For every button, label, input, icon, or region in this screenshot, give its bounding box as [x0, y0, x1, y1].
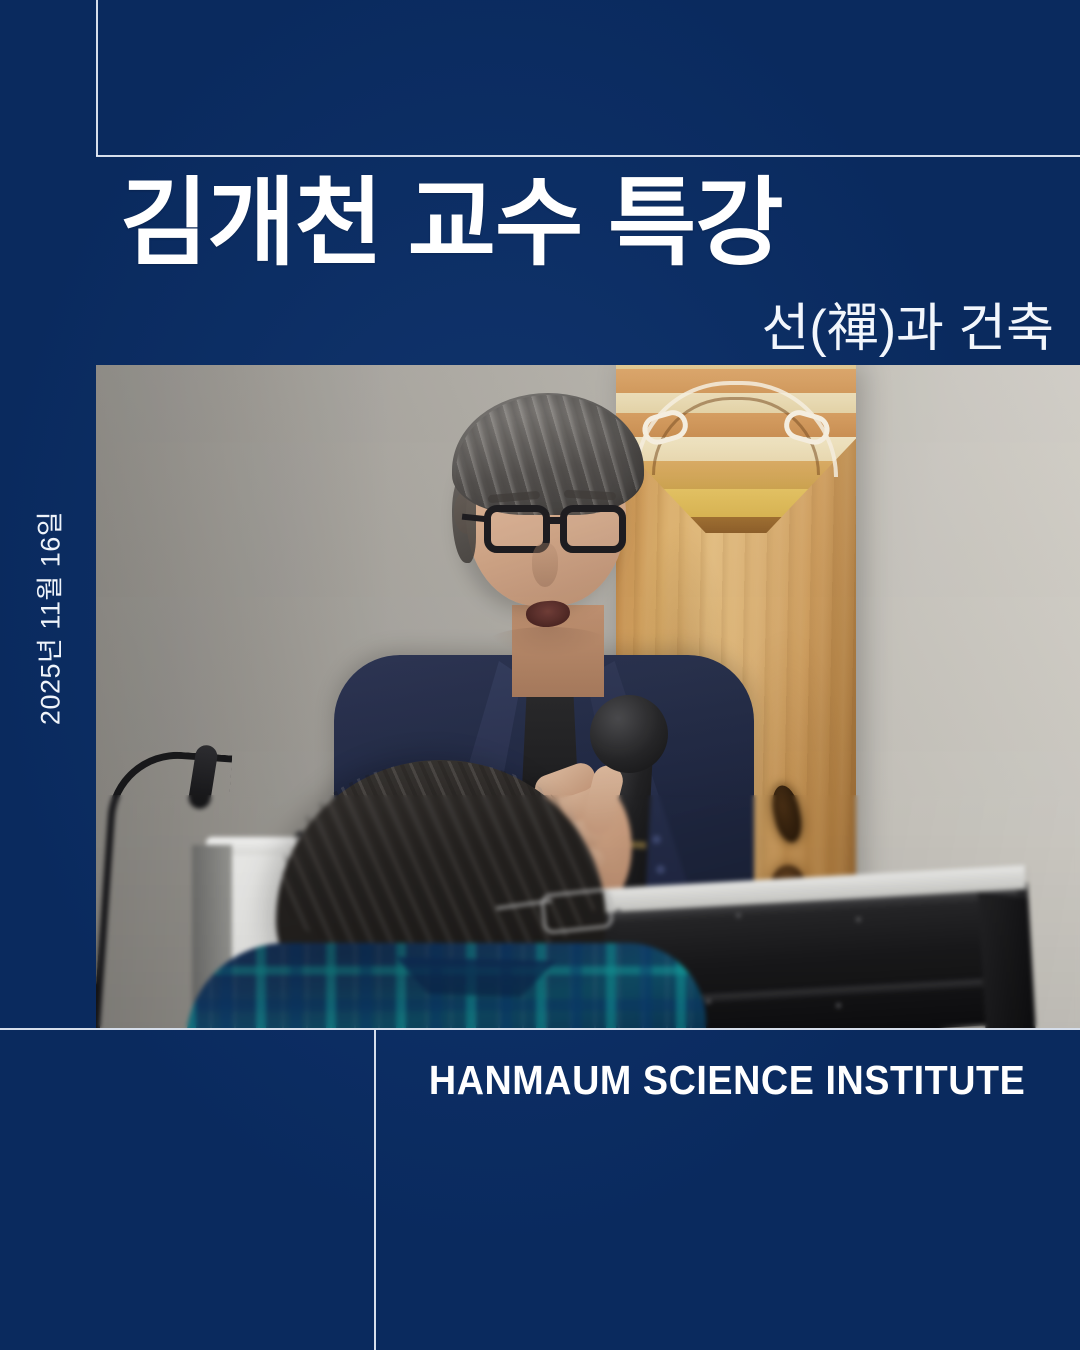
speaker-button: [652, 835, 661, 844]
page-subtitle: 선(禪)과 건축: [762, 286, 1054, 361]
frame-rule-vertical-top: [96, 0, 98, 156]
speaker-chin-shadow: [488, 627, 608, 657]
lectern-screw: [856, 917, 861, 922]
column-painted-bands: [616, 365, 856, 565]
lectern-screw: [836, 1003, 841, 1008]
column-band: [616, 489, 856, 519]
lecture-photo: [96, 365, 1080, 1028]
column-band: [616, 517, 856, 533]
audience-eyeglasses: [540, 887, 614, 934]
lectern-screw: [736, 913, 741, 918]
page-title: 김개천 교수 특강: [120, 172, 783, 276]
speaker-nose: [532, 543, 558, 587]
poster-root: 김개천 교수 특강 선(禪)과 건축 2025년 11월 16일: [0, 0, 1080, 1350]
header-block: 김개천 교수 특강 선(禪)과 건축: [96, 156, 1080, 365]
lectern-screw: [706, 999, 711, 1004]
eyeglasses-bridge: [548, 517, 564, 524]
speaker-button: [656, 865, 665, 874]
institute-footer: HANMAUM SCIENCE INSTITUTE: [374, 1030, 1080, 1130]
handheld-microphone-head: [590, 695, 668, 773]
event-date-vertical: 2025년 11월 16일: [29, 511, 68, 725]
lectern-side-panel: [978, 892, 1036, 1028]
institute-name: HANMAUM SCIENCE INSTITUTE: [429, 1057, 1025, 1104]
lectern-screw: [616, 909, 621, 914]
eyeglasses-lens-right: [560, 505, 626, 553]
